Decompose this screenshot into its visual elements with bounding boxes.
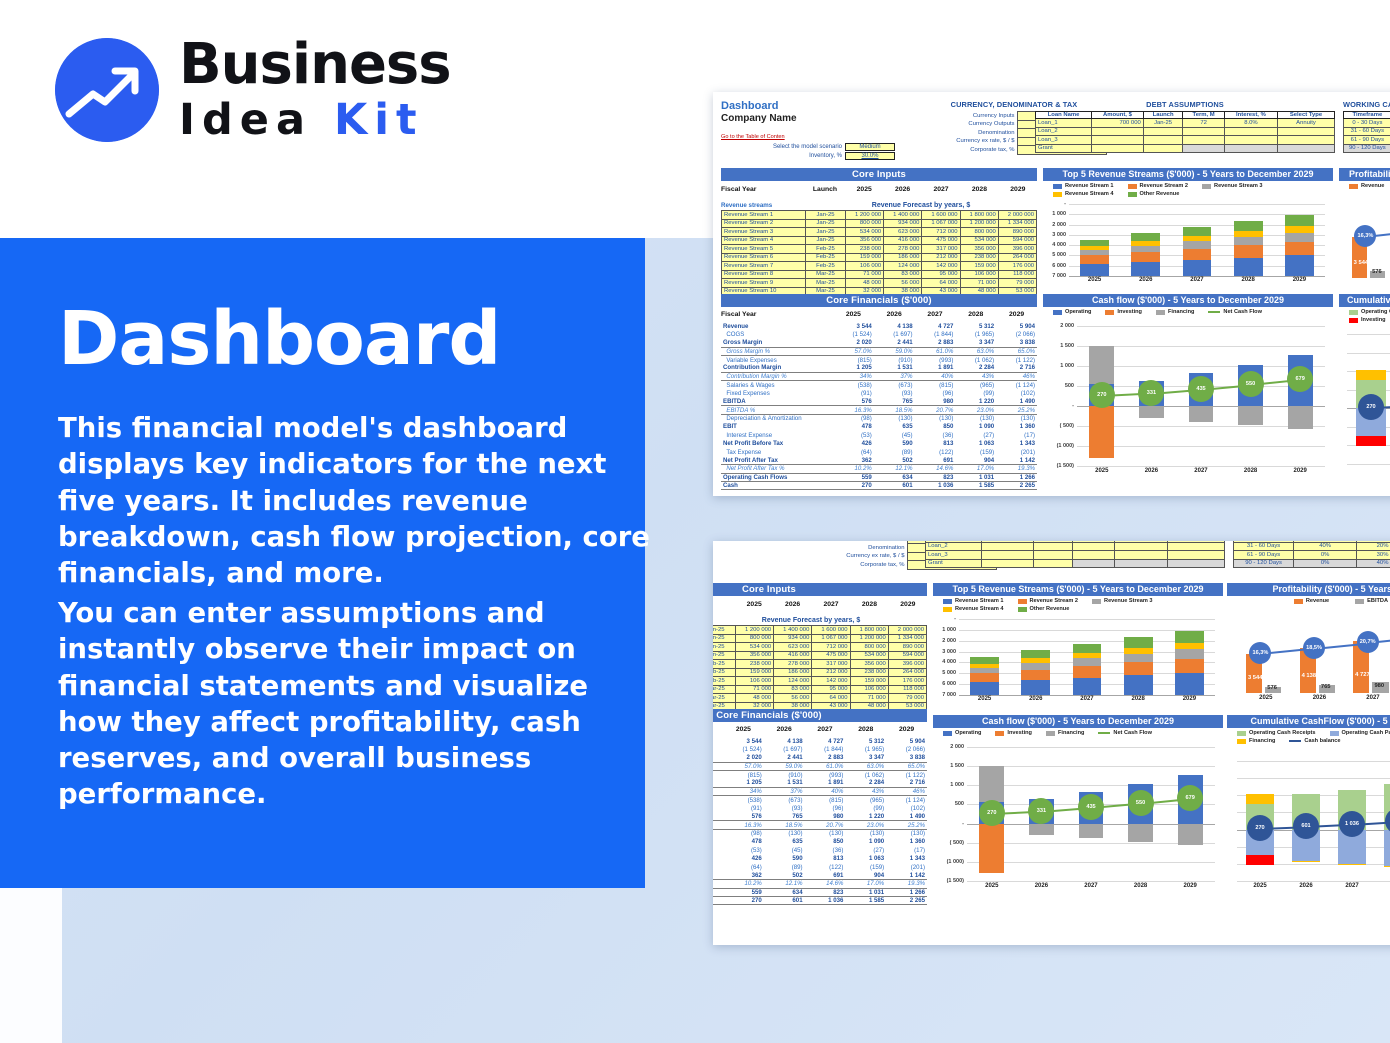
revenue-value[interactable]: 1 800 000	[960, 211, 998, 220]
revenue-value[interactable]: 212 000	[922, 253, 960, 262]
revenue-value[interactable]: 238 000	[960, 253, 998, 262]
revenue-value[interactable]: 1 200 000	[850, 634, 888, 643]
financial-value: 63.0%	[955, 347, 996, 355]
chart-title-cashflow: Cash flow ($'000) - 5 Years to December …	[1043, 294, 1333, 307]
revenue-value[interactable]: 475 000	[922, 236, 960, 245]
revenue-value[interactable]: 83 000	[774, 685, 812, 694]
revenue-value[interactable]: 118 000	[998, 270, 1036, 279]
revenue-value[interactable]: 396 000	[998, 245, 1036, 254]
revenue-launch[interactable]: Jan-25	[713, 651, 736, 660]
revenue-value[interactable]: 534 000	[850, 651, 888, 660]
debt-cell[interactable]	[1143, 136, 1183, 145]
revenue-value[interactable]: 534 000	[846, 228, 884, 237]
revenue-value[interactable]: 1 400 000	[774, 626, 812, 635]
revenue-value[interactable]: 264 000	[998, 253, 1036, 262]
legend-item: Revenue	[1349, 183, 1384, 189]
x-axis-tick: 2027	[1061, 696, 1112, 702]
revenue-launch[interactable]: Mar-25	[713, 694, 736, 703]
financial-line-label: Cash	[713, 896, 723, 904]
revenue-value[interactable]: 106 000	[850, 685, 888, 694]
wc-cell[interactable]: 40%	[1357, 559, 1390, 568]
chart-title-cashflow-b: Cash flow ($'000) - 5 Years to December …	[933, 715, 1223, 728]
revenue-value[interactable]: 356 000	[850, 660, 888, 669]
financial-value: (130)	[764, 829, 805, 837]
revenue-stream-name[interactable]: Revenue Stream 5	[722, 245, 806, 254]
financial-value: (159)	[955, 448, 996, 456]
debt-cell[interactable]	[1183, 144, 1224, 153]
revenue-value[interactable]: 278 000	[774, 660, 812, 669]
table-row: EBIT4786358501 0901 360	[721, 423, 1037, 431]
legend-item: Operating Cash Receipts	[1237, 730, 1316, 736]
legend-label: Financing	[1058, 730, 1084, 736]
wc-cell[interactable]: 0 - 30 Days	[1344, 119, 1390, 128]
revenue-value[interactable]: 1 400 000	[884, 211, 922, 220]
table-row: Loan_3	[1036, 136, 1335, 145]
revenue-launch[interactable]: Jan-25	[806, 236, 846, 245]
revenue-value[interactable]: 396 000	[888, 660, 926, 669]
financial-value: (1 697)	[764, 745, 805, 753]
revenue-launch[interactable]: Mar-25	[713, 685, 736, 694]
financial-value: 4 138	[874, 322, 915, 330]
debt-cell[interactable]	[1033, 551, 1073, 560]
revenue-value[interactable]: 106 000	[846, 262, 884, 271]
revenue-value[interactable]: 159 000	[736, 668, 774, 677]
financial-value: 1 142	[996, 456, 1037, 464]
revenue-value[interactable]: 118 000	[888, 685, 926, 694]
financial-line-label: Net Profit Before Tax	[721, 439, 833, 447]
financial-value: (815)	[833, 356, 874, 364]
table-row: Revenue Stream 4Jan-25356 000416 000475 …	[713, 651, 927, 660]
revenue-launch[interactable]: Jan-25	[713, 626, 736, 635]
table-row: Interest Expense(53)(45)(36)(27)(17)	[721, 431, 1037, 439]
table-row: Operating Cash Flows5596348231 0311 266	[713, 888, 927, 896]
x-axis-tick: 2027	[1171, 277, 1222, 283]
chart-cumulative-bottom: Cumulative CashFlow ($'000) - 5 Years to…	[1227, 715, 1390, 905]
x-axis-tick: 2026	[1010, 696, 1061, 702]
financial-value: 426	[833, 439, 874, 447]
revenue-value[interactable]: 594 000	[998, 236, 1036, 245]
financial-line-label: Fixed Expenses	[713, 804, 723, 812]
revenue-value[interactable]: 934 000	[884, 219, 922, 228]
financial-value: (98)	[833, 414, 874, 422]
legend-item: Revenue Stream 2	[1128, 183, 1189, 189]
financial-line-label: Cash	[721, 481, 833, 489]
chart-cashflow-top: Cash flow ($'000) - 5 Years to December …	[1043, 294, 1333, 490]
revenue-value[interactable]: 56 000	[774, 694, 812, 703]
revenue-value[interactable]: 623 000	[884, 228, 922, 237]
revenue-launch[interactable]: Feb-25	[713, 668, 736, 677]
financial-value: 16.3%	[833, 406, 874, 414]
debt-cell[interactable]	[1114, 559, 1167, 568]
revenue-value[interactable]: 95 000	[922, 270, 960, 279]
financial-value: 3 838	[886, 754, 927, 762]
financial-value: 2 716	[996, 364, 1037, 372]
wc-cell[interactable]: 90 - 120 Days	[1344, 144, 1390, 153]
revenue-value[interactable]: 238 000	[850, 668, 888, 677]
revenue-launch[interactable]: Jan-25	[806, 228, 846, 237]
legend-item: Other Revenue	[1018, 606, 1070, 612]
financial-value: 2 265	[996, 481, 1037, 489]
revenue-launch[interactable]: Feb-25	[713, 660, 736, 669]
financial-value: 2 883	[915, 339, 956, 347]
bar-financing	[1089, 346, 1114, 384]
bar-segment	[1183, 241, 1212, 248]
table-row: 90 - 120 Days0%40%	[1344, 144, 1390, 153]
bar-segment	[1124, 654, 1153, 663]
debt-cell[interactable]	[1183, 136, 1224, 145]
table-row: Cash2706011 0361 5852 265	[721, 481, 1037, 489]
wc-cell[interactable]: 0%	[1294, 551, 1357, 560]
table-of-contents-link[interactable]: Go to the Table of Conten	[721, 134, 785, 140]
wc-cell[interactable]: 31 - 60 Days	[1344, 127, 1390, 136]
financial-value: 23.0%	[845, 821, 886, 829]
financial-value: (36)	[805, 846, 846, 854]
legend-label: EBITDA	[1367, 598, 1388, 604]
currency-label: Currency Inputs	[921, 112, 1017, 121]
debt-cell[interactable]	[1033, 559, 1073, 568]
revenue-launch[interactable]: Feb-25	[806, 262, 846, 271]
x-axis-tick: 2026	[1120, 277, 1171, 283]
revenue-stream-name[interactable]: Revenue Stream 2	[722, 219, 806, 228]
legend-label: Revenue Stream 1	[1065, 183, 1114, 189]
year-header: 2028	[845, 726, 886, 733]
revenue-value[interactable]: 1 067 000	[922, 219, 960, 228]
year-headers-bottom: 20252026202720282029	[735, 601, 927, 608]
x-axis-tick: 2028	[1116, 883, 1166, 889]
revenue-value[interactable]: 623 000	[774, 643, 812, 652]
revenue-stream-name[interactable]: Revenue Stream 3	[722, 228, 806, 237]
debt-cell[interactable]	[1033, 542, 1073, 551]
revenue-value[interactable]: 186 000	[774, 668, 812, 677]
chart-title-revenue-streams: Top 5 Revenue Streams ($'000) - 5 Years …	[1043, 168, 1333, 181]
revenue-stream-name[interactable]: Revenue Stream 1	[722, 211, 806, 220]
bar-segment	[1234, 245, 1263, 257]
bar-segment	[1080, 240, 1109, 247]
revenue-launch[interactable]: Feb-25	[806, 245, 846, 254]
debt-table-b: Loan NameAmount, $LaunchTerm, MInterest,…	[925, 541, 1225, 568]
wc-cell[interactable]: 20%	[1357, 542, 1390, 551]
wc-cell[interactable]: 90 - 120 Days	[1234, 559, 1294, 568]
revenue-value[interactable]: 534 000	[960, 236, 998, 245]
revenue-stream-name[interactable]: Revenue Stream 9	[722, 279, 806, 288]
y-axis-tick: 1 000	[942, 627, 956, 633]
debt-cell[interactable]	[1073, 542, 1114, 551]
financial-value: (17)	[996, 431, 1037, 439]
debt-cell[interactable]: Grant	[926, 559, 982, 568]
revenue-value[interactable]: 800 000	[850, 643, 888, 652]
debt-cell[interactable]	[1277, 127, 1334, 136]
debt-cell[interactable]	[982, 559, 1034, 568]
revenue-value[interactable]: 356 000	[736, 651, 774, 660]
revenue-value[interactable]: 159 000	[846, 253, 884, 262]
revenue-value[interactable]: 142 000	[812, 677, 850, 686]
legend-label: Revenue Stream 2	[1140, 183, 1189, 189]
financial-value: (122)	[805, 863, 846, 871]
column-header: Term, M	[1183, 112, 1224, 119]
debt-cell[interactable]	[982, 551, 1034, 560]
financial-value: (98)	[723, 829, 764, 837]
financial-value: 1 343	[886, 854, 927, 862]
bar-segment	[970, 668, 999, 674]
legend-swatch	[1046, 731, 1055, 736]
revenue-launch[interactable]: Jan-25	[806, 219, 846, 228]
financial-value: (1 122)	[996, 356, 1037, 364]
revenue-value[interactable]: 416 000	[884, 236, 922, 245]
wc-cell[interactable]: 61 - 90 Days	[1234, 551, 1294, 560]
year-header: 2028	[960, 186, 998, 193]
bar-segment	[1285, 226, 1314, 232]
financial-line-label: Salaries & Wages	[721, 381, 833, 389]
revenue-launch[interactable]: Mar-25	[806, 279, 846, 288]
revenue-value[interactable]: 176 000	[998, 262, 1036, 271]
financial-value: (45)	[874, 431, 915, 439]
x-axis-tick: 2025	[959, 696, 1010, 702]
revenue-value[interactable]: 212 000	[812, 668, 850, 677]
financial-value: (1 124)	[996, 381, 1037, 389]
brand-idea-text: Idea	[179, 95, 334, 145]
legend-label: Financing	[1168, 309, 1194, 315]
revenue-value[interactable]: 186 000	[884, 253, 922, 262]
revenue-value[interactable]: 238 000	[846, 245, 884, 254]
revenue-value[interactable]: 317 000	[812, 660, 850, 669]
revenue-value[interactable]: 278 000	[884, 245, 922, 254]
revenue-value[interactable]: 95 000	[812, 685, 850, 694]
financial-value: (53)	[833, 431, 874, 439]
revenue-stream-name[interactable]: Revenue Stream 7	[722, 262, 806, 271]
debt-cell[interactable]	[1167, 559, 1224, 568]
revenue-value[interactable]: 142 000	[922, 262, 960, 271]
debt-cell[interactable]: Loan_2	[1036, 127, 1092, 136]
financial-value: 57.0%	[833, 347, 874, 355]
revenue-value[interactable]: 79 000	[888, 694, 926, 703]
legend-swatch	[1053, 192, 1062, 197]
debt-cell[interactable]: 72	[1183, 119, 1224, 128]
financial-value: (2 066)	[996, 330, 1037, 338]
revenue-value[interactable]: 712 000	[922, 228, 960, 237]
table-row: Salaries & Wages(538)(673)(815)(965)(1 1…	[721, 381, 1037, 389]
revenue-stream-name[interactable]: Revenue Stream 8	[722, 270, 806, 279]
plot-revenue-streams	[1069, 204, 1325, 276]
financial-value: 1 142	[886, 871, 927, 879]
revenue-value[interactable]: 71 000	[846, 270, 884, 279]
debt-cell[interactable]	[1092, 144, 1144, 153]
scenario-select[interactable]: Medium	[845, 143, 895, 151]
revenue-value[interactable]: 356 000	[846, 236, 884, 245]
revenue-value[interactable]: 176 000	[888, 677, 926, 686]
revenue-value[interactable]: 1 800 000	[850, 626, 888, 635]
inventory-input[interactable]: 30.0%	[845, 152, 895, 160]
legend-item: Operating Cash Payments	[1330, 730, 1390, 736]
revenue-launch[interactable]: Jan-25	[713, 634, 736, 643]
debt-cell[interactable]	[1114, 542, 1167, 551]
debt-cell[interactable]: 8.0%	[1224, 119, 1277, 128]
revenue-launch[interactable]: Feb-25	[713, 677, 736, 686]
revenue-value[interactable]: 64 000	[922, 279, 960, 288]
revenue-value[interactable]: 416 000	[774, 651, 812, 660]
revenue-value[interactable]: 1 334 000	[998, 219, 1036, 228]
financial-line-label: Fixed Expenses	[721, 389, 833, 397]
debt-cell[interactable]	[1167, 542, 1224, 551]
financial-value: 2 716	[886, 779, 927, 787]
revenue-value[interactable]: 159 000	[960, 262, 998, 271]
bar-segment	[970, 664, 999, 668]
bar-financing	[1356, 370, 1386, 380]
revenue-value[interactable]: 48 000	[736, 694, 774, 703]
revenue-value[interactable]: 712 000	[812, 643, 850, 652]
debt-cell[interactable]: 700 000	[1092, 119, 1144, 128]
debt-cell[interactable]	[1277, 136, 1334, 145]
revenue-value[interactable]: 934 000	[774, 634, 812, 643]
revenue-value[interactable]: 800 000	[846, 219, 884, 228]
wc-cell[interactable]: 30%	[1357, 551, 1390, 560]
revenue-value[interactable]: 890 000	[998, 228, 1036, 237]
debt-cell[interactable]	[1073, 559, 1114, 568]
wc-cell[interactable]: 40%	[1294, 542, 1357, 551]
debt-cell[interactable]	[1224, 144, 1277, 153]
debt-cell[interactable]: Grant	[1036, 144, 1092, 153]
bar-financing	[1189, 406, 1214, 422]
year-header: 2029	[996, 311, 1037, 318]
bar-segment	[1021, 680, 1050, 695]
wc-cell[interactable]: 61 - 90 Days	[1344, 136, 1390, 145]
financial-value: 362	[723, 871, 764, 879]
wc-cell[interactable]: 31 - 60 Days	[1234, 542, 1294, 551]
revenue-value[interactable]: 356 000	[960, 245, 998, 254]
revenue-value[interactable]: 1 200 000	[960, 219, 998, 228]
y-axis-tick: 7 000	[1052, 273, 1066, 279]
revenue-value[interactable]: 1 067 000	[812, 634, 850, 643]
wc-cell[interactable]: 0%	[1294, 559, 1357, 568]
debt-cell[interactable]	[1143, 127, 1183, 136]
legend-revenue-streams-b: Revenue Stream 1Revenue Stream 2Revenue …	[933, 596, 1223, 612]
table-row: Revenue Stream 1Jan-251 200 0001 400 000…	[713, 626, 927, 635]
revenue-value[interactable]: 79 000	[998, 279, 1036, 288]
revenue-launch[interactable]: Jan-25	[713, 643, 736, 652]
bar-segment	[1124, 662, 1153, 675]
revenue-value[interactable]: 1 600 000	[922, 211, 960, 220]
revenue-value[interactable]: 48 000	[846, 279, 884, 288]
bar-financing-neg	[1384, 866, 1390, 867]
debt-cell[interactable]	[1073, 551, 1114, 560]
revenue-value[interactable]: 594 000	[888, 651, 926, 660]
revenue-value[interactable]: 64 000	[812, 694, 850, 703]
financial-value: (1 122)	[886, 771, 927, 779]
revenue-value[interactable]: 1 200 000	[846, 211, 884, 220]
financial-value: (1 965)	[955, 330, 996, 338]
table-row: Revenue3 5444 1384 7275 3125 904	[721, 322, 1037, 330]
debt-cell[interactable]: Loan_2	[926, 542, 982, 551]
legend-swatch	[1294, 599, 1303, 604]
table-row: Revenue Stream 5Feb-25238 000278 000317 …	[713, 660, 927, 669]
legend-swatch	[943, 607, 952, 612]
revenue-value[interactable]: 800 000	[960, 228, 998, 237]
revenue-value[interactable]: 890 000	[888, 643, 926, 652]
year-header: 2025	[833, 311, 874, 318]
debt-cell[interactable]	[1224, 136, 1277, 145]
bar-segment	[1131, 246, 1160, 252]
debt-cell[interactable]: Loan_3	[1036, 136, 1092, 145]
debt-cell[interactable]	[1092, 127, 1144, 136]
y-axis-tick: 1 000	[1060, 363, 1074, 369]
financial-value: (130)	[915, 414, 956, 422]
revenue-launch[interactable]: Mar-25	[806, 270, 846, 279]
revenue-value[interactable]: 56 000	[884, 279, 922, 288]
revenue-value[interactable]: 534 000	[736, 643, 774, 652]
revenue-value[interactable]: 159 000	[850, 677, 888, 686]
legend-label: Operating Cash Payments	[1342, 730, 1390, 736]
revenue-launch[interactable]: Jan-25	[806, 211, 846, 220]
revenue-value[interactable]: 238 000	[736, 660, 774, 669]
y-axis-tick: 5 000	[942, 670, 956, 676]
financial-value: 20.7%	[805, 821, 846, 829]
legend-line-swatch	[1098, 732, 1110, 734]
debt-cell[interactable]	[1183, 127, 1224, 136]
revenue-value[interactable]: 124 000	[774, 677, 812, 686]
debt-cell[interactable]	[982, 542, 1034, 551]
revenue-stream-name[interactable]: Revenue Stream 6	[722, 253, 806, 262]
bar-segment	[1175, 643, 1204, 649]
debt-cell[interactable]: Annuity	[1277, 119, 1334, 128]
financial-value: (93)	[764, 804, 805, 812]
revenue-stream-name[interactable]: Revenue Stream 4	[722, 236, 806, 245]
revenue-value[interactable]: 124 000	[884, 262, 922, 271]
debt-cell[interactable]: Loan_3	[926, 551, 982, 560]
debt-cell[interactable]: Loan_1	[1036, 119, 1092, 128]
revenue-value[interactable]: 317 000	[922, 245, 960, 254]
revenue-value[interactable]: 1 200 000	[736, 626, 774, 635]
year-header: 2029	[999, 186, 1037, 193]
revenue-launch[interactable]: Feb-25	[806, 253, 846, 262]
debt-cell[interactable]: Jan-25	[1143, 119, 1183, 128]
legend-label: Revenue Stream 3	[1104, 598, 1153, 604]
revenue-value[interactable]: 83 000	[884, 270, 922, 279]
revenue-value[interactable]: 71 000	[736, 685, 774, 694]
table-row: Revenue Stream 7Feb-25106 000124 000142 …	[713, 677, 927, 686]
financial-value: 691	[805, 871, 846, 879]
financial-value: 634	[764, 888, 805, 896]
revenue-value[interactable]: 106 000	[736, 677, 774, 686]
debt-cell[interactable]	[1277, 144, 1334, 153]
debt-cell[interactable]	[1114, 551, 1167, 560]
data-bubble-cash-balance: 270	[1247, 815, 1273, 841]
revenue-value[interactable]: 2 000 000	[888, 626, 926, 635]
bar-segment	[1080, 264, 1109, 276]
debt-cell[interactable]	[1167, 551, 1224, 560]
revenue-value[interactable]: 1 334 000	[888, 634, 926, 643]
revenue-value[interactable]: 1 600 000	[812, 626, 850, 635]
bar-segment	[1131, 233, 1160, 241]
bar-financing	[1238, 406, 1263, 425]
revenue-value[interactable]: 71 000	[850, 694, 888, 703]
y-axis-tick: (1 000)	[1057, 443, 1074, 449]
financial-line-label: Contribution Margin	[713, 779, 723, 787]
revenue-value[interactable]: 264 000	[888, 668, 926, 677]
legend-swatch	[1355, 599, 1364, 604]
bar-operating-payments	[1384, 830, 1390, 866]
legend-label: Revenue Stream 3	[1214, 183, 1263, 189]
debt-cell[interactable]	[1092, 136, 1144, 145]
y-axis-tick: -	[962, 821, 964, 827]
revenue-value[interactable]: 475 000	[812, 651, 850, 660]
revenue-value[interactable]: 71 000	[960, 279, 998, 288]
revenue-value[interactable]: 106 000	[960, 270, 998, 279]
legend-item: Net Cash Flow	[1098, 730, 1152, 736]
financial-value: 37%	[764, 787, 805, 795]
debt-cell[interactable]	[1143, 144, 1183, 153]
debt-cell[interactable]	[1224, 127, 1277, 136]
revenue-value[interactable]: 2 000 000	[998, 211, 1036, 220]
revenue-value[interactable]: 800 000	[736, 634, 774, 643]
